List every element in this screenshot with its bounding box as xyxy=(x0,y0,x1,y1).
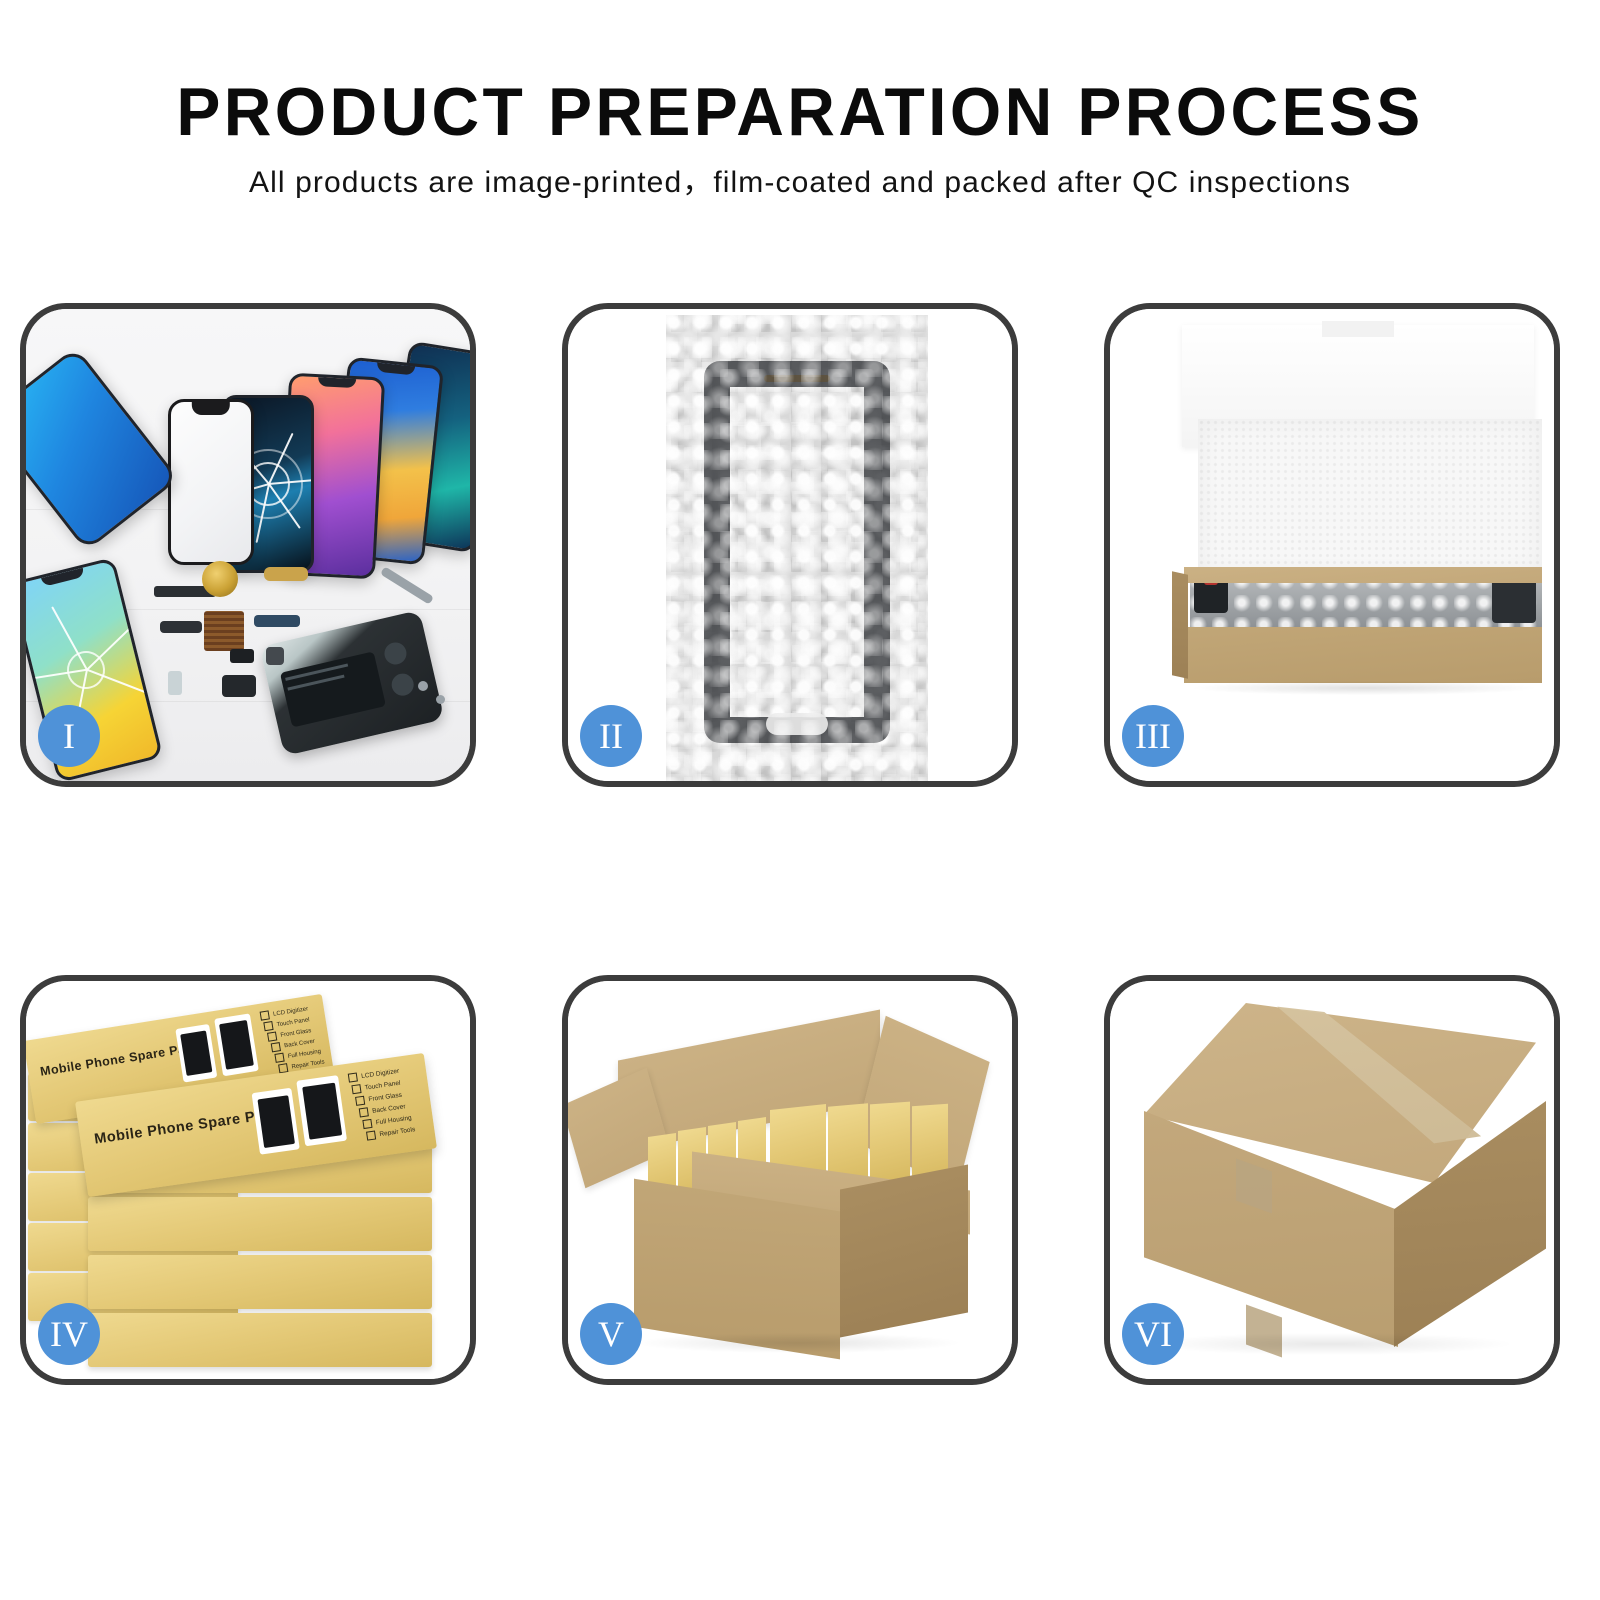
step-badge-6: VI xyxy=(1122,1303,1184,1365)
step-badge-1: I xyxy=(38,705,100,767)
part-sim-tray xyxy=(168,671,182,695)
retail-box-photo xyxy=(296,1075,347,1146)
box-bottom-shadow xyxy=(1194,681,1534,695)
glass-notch xyxy=(192,399,230,415)
step-badge-5: V xyxy=(580,1303,642,1365)
box-front-face xyxy=(1184,627,1542,683)
step-panel-5[interactable]: V xyxy=(562,975,1018,1385)
home-button-cutout xyxy=(766,713,828,735)
step-numeral: VI xyxy=(1134,1316,1172,1352)
retail-box-photo xyxy=(175,1024,217,1083)
part-ic-chip xyxy=(204,611,244,651)
retail-box-photo xyxy=(214,1013,259,1076)
step-numeral: II xyxy=(599,718,623,754)
step-1-image xyxy=(26,309,470,781)
step-panel-1[interactable]: I xyxy=(20,303,476,787)
part-flex-cable-top xyxy=(264,567,308,581)
part-screws xyxy=(436,695,445,704)
step-panel-4[interactable]: Mobile Phone Spare Parts LCD Digitizer T… xyxy=(20,975,476,1385)
carton-right-face xyxy=(840,1165,968,1338)
step-numeral: I xyxy=(63,718,75,754)
part-flex-cable-right xyxy=(254,615,300,627)
part-camera-module xyxy=(230,649,254,663)
step-3-image xyxy=(1110,309,1554,781)
box-left-face xyxy=(1172,571,1188,678)
part-flex-cable-left xyxy=(160,621,202,633)
step-numeral: III xyxy=(1135,718,1171,754)
step-2-image xyxy=(568,309,1012,781)
step-panel-3[interactable]: III xyxy=(1104,303,1560,787)
step-badge-2: II xyxy=(580,705,642,767)
carton-shadow xyxy=(1150,1333,1510,1355)
part-wireless-coil xyxy=(202,561,238,597)
carton-shadow xyxy=(638,1333,958,1353)
retail-box-photo xyxy=(252,1088,300,1155)
step-panel-2[interactable]: II xyxy=(562,303,1018,787)
foam-texture xyxy=(1198,419,1542,577)
step-panel-6[interactable]: VI xyxy=(1104,975,1560,1385)
part-vibration-motor xyxy=(266,647,284,665)
box-rim xyxy=(1184,567,1542,583)
phone-notch xyxy=(376,363,415,376)
step-numeral: IV xyxy=(50,1316,88,1352)
step-numeral: V xyxy=(598,1316,624,1352)
screen-bezel xyxy=(704,361,890,743)
step-badge-3: III xyxy=(1122,705,1184,767)
phone-notch xyxy=(318,377,356,388)
earpiece-slot xyxy=(764,375,830,382)
process-step-grid: I II xyxy=(0,0,1600,1600)
part-screws xyxy=(418,681,428,691)
retail-box-checklist: LCD Digitizer Touch Panel Front Glass Ba… xyxy=(348,1064,430,1153)
front-glass-panel xyxy=(168,399,254,565)
part-button-flex xyxy=(222,675,256,697)
step-badge-4: IV xyxy=(38,1303,100,1365)
lid-tab xyxy=(1322,321,1394,337)
